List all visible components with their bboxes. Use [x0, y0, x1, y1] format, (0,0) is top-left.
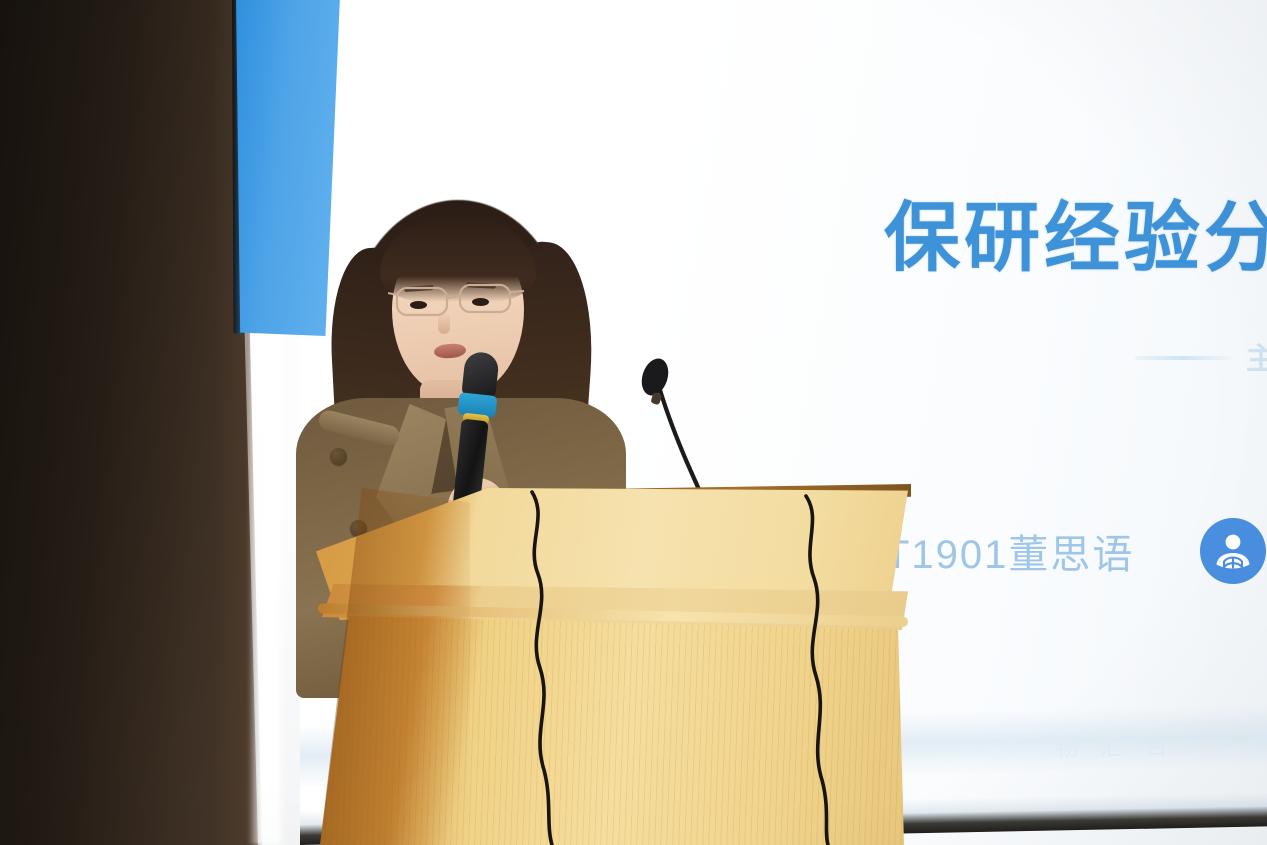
slide-divider-rule — [1135, 356, 1231, 360]
slide-presenter-name: T1901董思语 — [885, 522, 1134, 580]
reading-person-logo — [1200, 518, 1266, 584]
photo-scene: 保研经验分 主 T1901董思语 物 汇 合 汇 报 — [0, 0, 1267, 845]
slide-footnote-secondary: 汇 报 — [1212, 721, 1267, 754]
slide-footnote: 物 汇 合 — [1055, 726, 1175, 764]
audio-cables — [316, 470, 908, 845]
nose — [438, 312, 450, 334]
coat-button-upper — [330, 448, 347, 465]
eyeglasses — [388, 278, 530, 320]
slide-title: 保研经验分 — [884, 196, 1267, 282]
slide-subtitle: 主 — [1246, 334, 1267, 378]
light-gap — [248, 330, 286, 845]
